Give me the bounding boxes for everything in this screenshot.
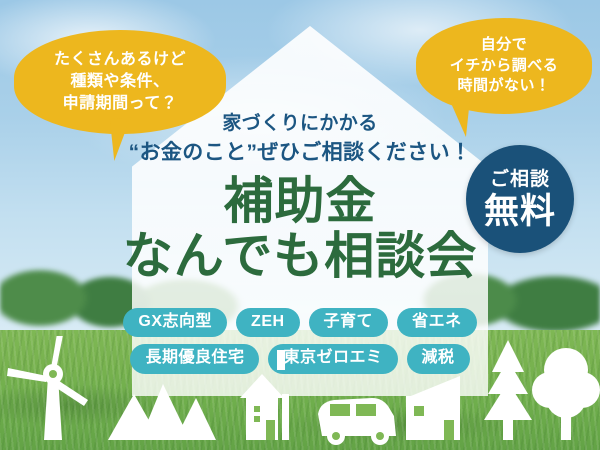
speech-bubble-right-tail <box>444 97 470 137</box>
speech-bubble-left-line-3: 申請期間って？ <box>54 93 186 115</box>
tag-item[interactable]: 省エネ <box>397 308 477 337</box>
free-consultation-badge: ご相談 無料 <box>466 145 574 253</box>
speech-bubble-right-line-2: イチから調べる <box>450 56 559 77</box>
tag-row-1: GX志向型 ZEH 子育て 省エネ <box>0 308 600 337</box>
speech-bubble-right: 自分で イチから調べる 時間がない！ <box>416 18 592 114</box>
tag-item[interactable]: ZEH <box>236 308 300 337</box>
mountains-icon <box>108 384 216 440</box>
car-icon <box>318 398 396 445</box>
promo-banner: たくさんあるけど 種類や条件、 申請期間って？ 自分で イチから調べる 時間がな… <box>0 0 600 450</box>
speech-bubble-left-line-2: 種類や条件、 <box>54 71 186 93</box>
round-tree-icon <box>532 348 600 440</box>
house-icon <box>240 350 289 440</box>
speech-bubble-right-line-3: 時間がない！ <box>450 76 559 97</box>
modern-house-icon <box>406 376 460 440</box>
tag-item[interactable]: GX志向型 <box>123 308 227 337</box>
pine-tree-icon <box>484 340 532 440</box>
speech-bubble-right-line-1: 自分で <box>450 35 559 56</box>
scene-illustration <box>0 336 600 450</box>
speech-bubble-left-line-1: たくさんあるけど <box>54 49 186 71</box>
wind-turbine-icon <box>7 336 88 440</box>
badge-line-2: 無料 <box>484 194 556 229</box>
speech-bubble-left-tail <box>110 117 136 161</box>
badge-line-1: ご相談 <box>490 170 550 189</box>
tag-item[interactable]: 子育て <box>309 308 389 337</box>
speech-bubble-left: たくさんあるけど 種類や条件、 申請期間って？ <box>14 30 226 134</box>
